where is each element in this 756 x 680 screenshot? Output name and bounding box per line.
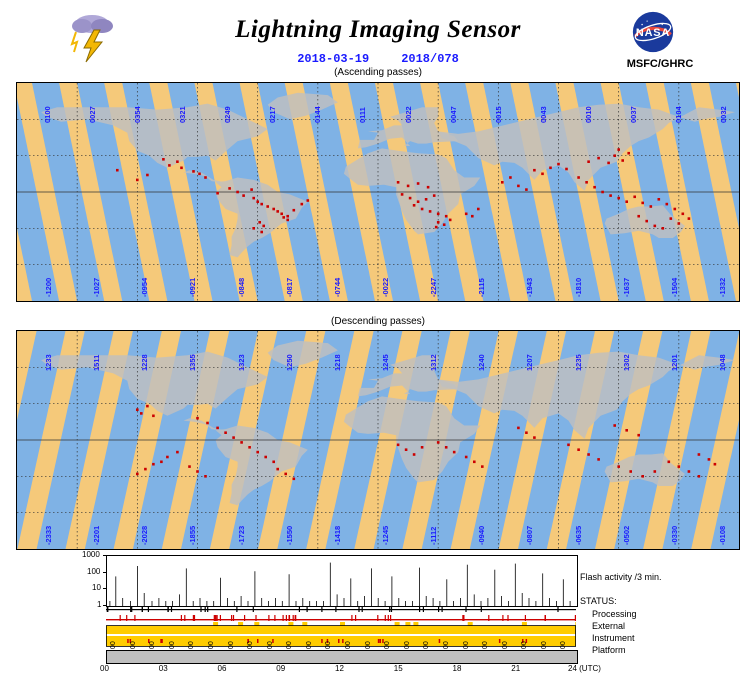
flash-activity-legend: Flash activity /3 min. bbox=[580, 572, 662, 582]
orbit-label-top-14: 1048 bbox=[718, 354, 727, 371]
y-tick-1: 1 bbox=[97, 600, 101, 609]
minute-tick-11: 00 bbox=[325, 641, 332, 649]
orbit-label-top-14: 0104 bbox=[674, 106, 683, 123]
orbit-label-top-6: 0144 bbox=[313, 106, 322, 123]
orbit-label-top-1: 1511 bbox=[92, 355, 101, 371]
orbit-label-bottom-5: -1550 bbox=[285, 526, 294, 545]
orbit-label-top-11: 1235 bbox=[574, 354, 583, 371]
x-tick-12: 12 bbox=[335, 664, 344, 673]
orbit-label-bottom-1: -1027 bbox=[92, 278, 101, 297]
orbit-label-bottom-14: -0108 bbox=[718, 526, 727, 545]
orbit-label-top-4: 1323 bbox=[237, 354, 246, 371]
orbit-label-bottom-12: -0502 bbox=[622, 526, 631, 545]
y-tick-10: 10 bbox=[92, 583, 101, 592]
y-tick-mark bbox=[103, 555, 106, 556]
orbit-label-bottom-10: -0807 bbox=[525, 526, 534, 545]
orbit-label-top-0: 0100 bbox=[43, 106, 52, 123]
minute-tick-15: 00 bbox=[404, 641, 411, 649]
orbit-label-bottom-13: -1504 bbox=[670, 278, 679, 297]
status-heading: STATUS: bbox=[580, 596, 617, 606]
lightning-cloud-icon bbox=[62, 8, 126, 64]
minute-tick-8: 00 bbox=[267, 641, 274, 649]
orbit-label-top-13: 0037 bbox=[629, 106, 638, 123]
orbit-label-top-3: 1355 bbox=[188, 354, 197, 371]
orbit-label-top-15: 0032 bbox=[719, 106, 728, 123]
nasa-meatball-icon: NASA bbox=[627, 8, 689, 58]
svg-text:NASA: NASA bbox=[636, 27, 670, 39]
orbit-label-top-3: 0321 bbox=[178, 106, 187, 123]
orbit-label-bottom-7: -0022 bbox=[381, 278, 390, 297]
orbit-label-bottom-2: -2028 bbox=[140, 526, 149, 545]
y-tick-1000: 1000 bbox=[82, 550, 100, 559]
minute-tick-4: 00 bbox=[188, 641, 195, 649]
orbit-label-bottom-0: -1200 bbox=[44, 278, 53, 297]
minute-tick-2: 00 bbox=[149, 641, 156, 649]
orbit-label-top-6: 1218 bbox=[333, 354, 342, 371]
y-tick-mark bbox=[103, 572, 106, 573]
minute-tick-0: 00 bbox=[110, 641, 117, 649]
date-iso: 2018-03-19 bbox=[297, 52, 369, 66]
flash-activity-plot bbox=[106, 555, 578, 607]
minute-tick-23: 00 bbox=[560, 641, 567, 649]
descending-caption: (Descending passes) bbox=[0, 316, 756, 327]
y-tick-100: 100 bbox=[87, 567, 100, 576]
orbit-label-bottom-11: -0635 bbox=[574, 526, 583, 545]
orbit-label-bottom-1: -2201 bbox=[92, 526, 101, 545]
minute-tick-22: 00 bbox=[541, 641, 548, 649]
orbit-label-bottom-6: -0744 bbox=[333, 278, 342, 297]
orbit-label-top-2: 0354 bbox=[133, 106, 142, 123]
orbit-label-bottom-8: -1112 bbox=[429, 527, 438, 545]
orbit-label-bottom-5: -0817 bbox=[285, 278, 294, 297]
minute-tick-20: 00 bbox=[502, 641, 509, 649]
x-tick-00: 00 bbox=[100, 664, 109, 673]
date-doy: 2018/078 bbox=[401, 52, 459, 66]
minute-tick-14: 00 bbox=[384, 641, 391, 649]
minute-tick-7: 00 bbox=[247, 641, 254, 649]
minute-tick-19: 00 bbox=[482, 641, 489, 649]
orbit-label-top-2: 1228 bbox=[140, 354, 149, 371]
minute-tick-1: 00 bbox=[130, 641, 137, 649]
orbit-label-bottom-9: -2115 bbox=[477, 278, 486, 297]
orbit-label-bottom-2: -0954 bbox=[140, 278, 149, 297]
orbit-label-top-4: 0249 bbox=[223, 106, 232, 123]
orbit-label-bottom-4: -0848 bbox=[237, 278, 246, 297]
x-tick-03: 03 bbox=[159, 664, 168, 673]
minute-tick-16: 00 bbox=[423, 641, 430, 649]
ascending-map: 0100002703540321024902170144011100220047… bbox=[16, 82, 740, 302]
orbit-label-bottom-3: -1855 bbox=[188, 526, 197, 545]
orbit-label-top-5: 1250 bbox=[285, 354, 294, 371]
orbit-label-top-1: 0027 bbox=[88, 106, 97, 123]
orbit-label-top-12: 0010 bbox=[584, 106, 593, 123]
x-tick-15: 15 bbox=[394, 664, 403, 673]
x-tick-21: 21 bbox=[511, 664, 520, 673]
status-label-processing: Processing bbox=[592, 609, 637, 619]
orbit-label-top-12: 1302 bbox=[622, 354, 631, 371]
orbit-label-top-7: 0111 bbox=[358, 107, 367, 123]
minute-tick-3: 00 bbox=[169, 641, 176, 649]
orbit-label-top-5: 0217 bbox=[268, 106, 277, 123]
x-tick-09: 09 bbox=[276, 664, 285, 673]
ascending-caption: (Ascending passes) bbox=[0, 67, 756, 78]
y-tick-mark bbox=[103, 605, 106, 606]
minute-tick-10: 00 bbox=[306, 641, 313, 649]
minute-tick-12: 00 bbox=[345, 641, 352, 649]
x-tick-18: 18 bbox=[453, 664, 462, 673]
status-label-instrument: Instrument bbox=[592, 633, 635, 643]
orbit-label-bottom-14: -1332 bbox=[718, 278, 727, 297]
orbit-label-top-9: 1240 bbox=[477, 354, 486, 371]
orbit-label-bottom-0: -2333 bbox=[44, 526, 53, 545]
minute-tick-6: 00 bbox=[228, 641, 235, 649]
minute-tick-21: 00 bbox=[521, 641, 528, 649]
orbit-label-bottom-7: -1245 bbox=[381, 526, 390, 545]
y-tick-mark bbox=[103, 588, 106, 589]
x-tick-06: 06 bbox=[218, 664, 227, 673]
minute-tick-5: 00 bbox=[208, 641, 215, 649]
orbit-label-top-10: 0015 bbox=[494, 106, 503, 123]
x-axis-label: 24 (UTC) bbox=[568, 664, 601, 673]
minute-tick-18: 00 bbox=[463, 641, 470, 649]
minute-tick-17: 00 bbox=[443, 641, 450, 649]
orbit-label-top-0: 1233 bbox=[44, 354, 53, 371]
orbit-label-bottom-13: -0330 bbox=[670, 526, 679, 545]
orbit-label-top-13: 1201 bbox=[670, 354, 679, 371]
orbit-label-bottom-6: -1418 bbox=[333, 526, 342, 545]
orbit-label-bottom-9: -0940 bbox=[477, 526, 486, 545]
orbit-label-bottom-8: -2247 bbox=[429, 278, 438, 297]
orbit-label-top-11: 0043 bbox=[539, 106, 548, 123]
orbit-label-top-7: 1245 bbox=[381, 354, 390, 371]
status-label-external: External bbox=[592, 621, 625, 631]
orbit-label-bottom-10: -1943 bbox=[525, 278, 534, 297]
orbit-label-top-8: 1312 bbox=[429, 354, 438, 371]
orbit-label-bottom-11: -1810 bbox=[574, 278, 583, 297]
axis-band bbox=[106, 650, 578, 664]
orbit-label-top-8: 0022 bbox=[404, 106, 413, 123]
descending-map: 1233151112281355132312501218124513121240… bbox=[16, 330, 740, 550]
time-axis: 0000000000000000000000000000000000000000… bbox=[80, 650, 640, 670]
orbit-label-bottom-12: -1637 bbox=[622, 278, 631, 297]
minute-tick-13: 00 bbox=[365, 641, 372, 649]
minute-tick-9: 00 bbox=[286, 641, 293, 649]
orbit-label-bottom-3: -0921 bbox=[188, 278, 197, 297]
orbit-label-bottom-4: -1723 bbox=[237, 526, 246, 545]
orbit-label-top-10: 1207 bbox=[525, 354, 534, 371]
orbit-label-top-9: 0047 bbox=[449, 106, 458, 123]
